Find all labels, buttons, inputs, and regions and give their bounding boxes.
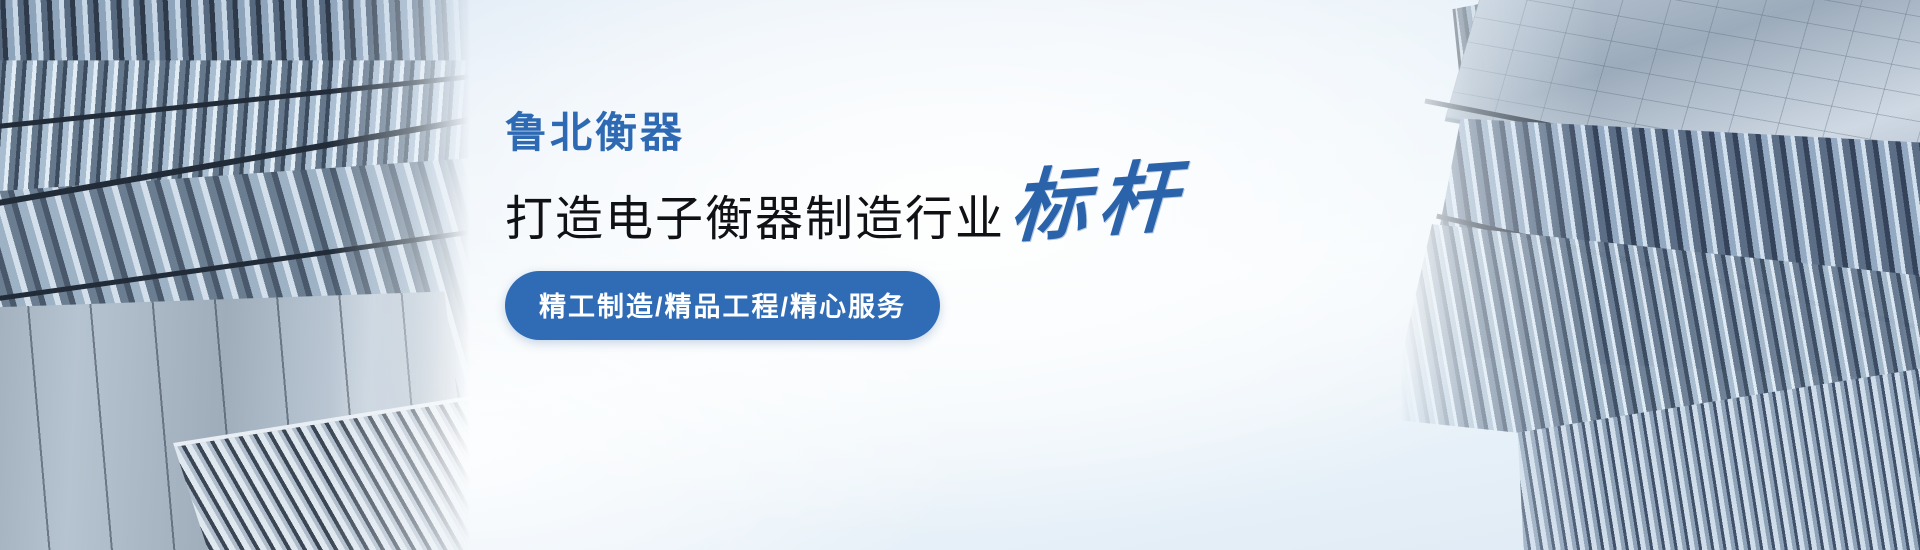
right-building-photo bbox=[1400, 0, 1920, 550]
hero-banner: 鲁北衡器 打造电子衡器制造行业 标杆 精工制造/精品工程/精心服务 bbox=[0, 0, 1920, 550]
headline: 打造电子衡器制造行业 标杆 bbox=[505, 176, 1425, 245]
brand-name: 鲁北衡器 bbox=[505, 112, 1425, 154]
left-building-photo bbox=[0, 0, 470, 550]
headline-accent-calligraphy: 标杆 bbox=[1009, 163, 1188, 242]
headline-main-text: 打造电子衡器制造行业 bbox=[505, 195, 1005, 245]
banner-content: 鲁北衡器 打造电子衡器制造行业 标杆 精工制造/精品工程/精心服务 bbox=[505, 112, 1425, 340]
slogan-pill-button[interactable]: 精工制造/精品工程/精心服务 bbox=[505, 271, 940, 340]
